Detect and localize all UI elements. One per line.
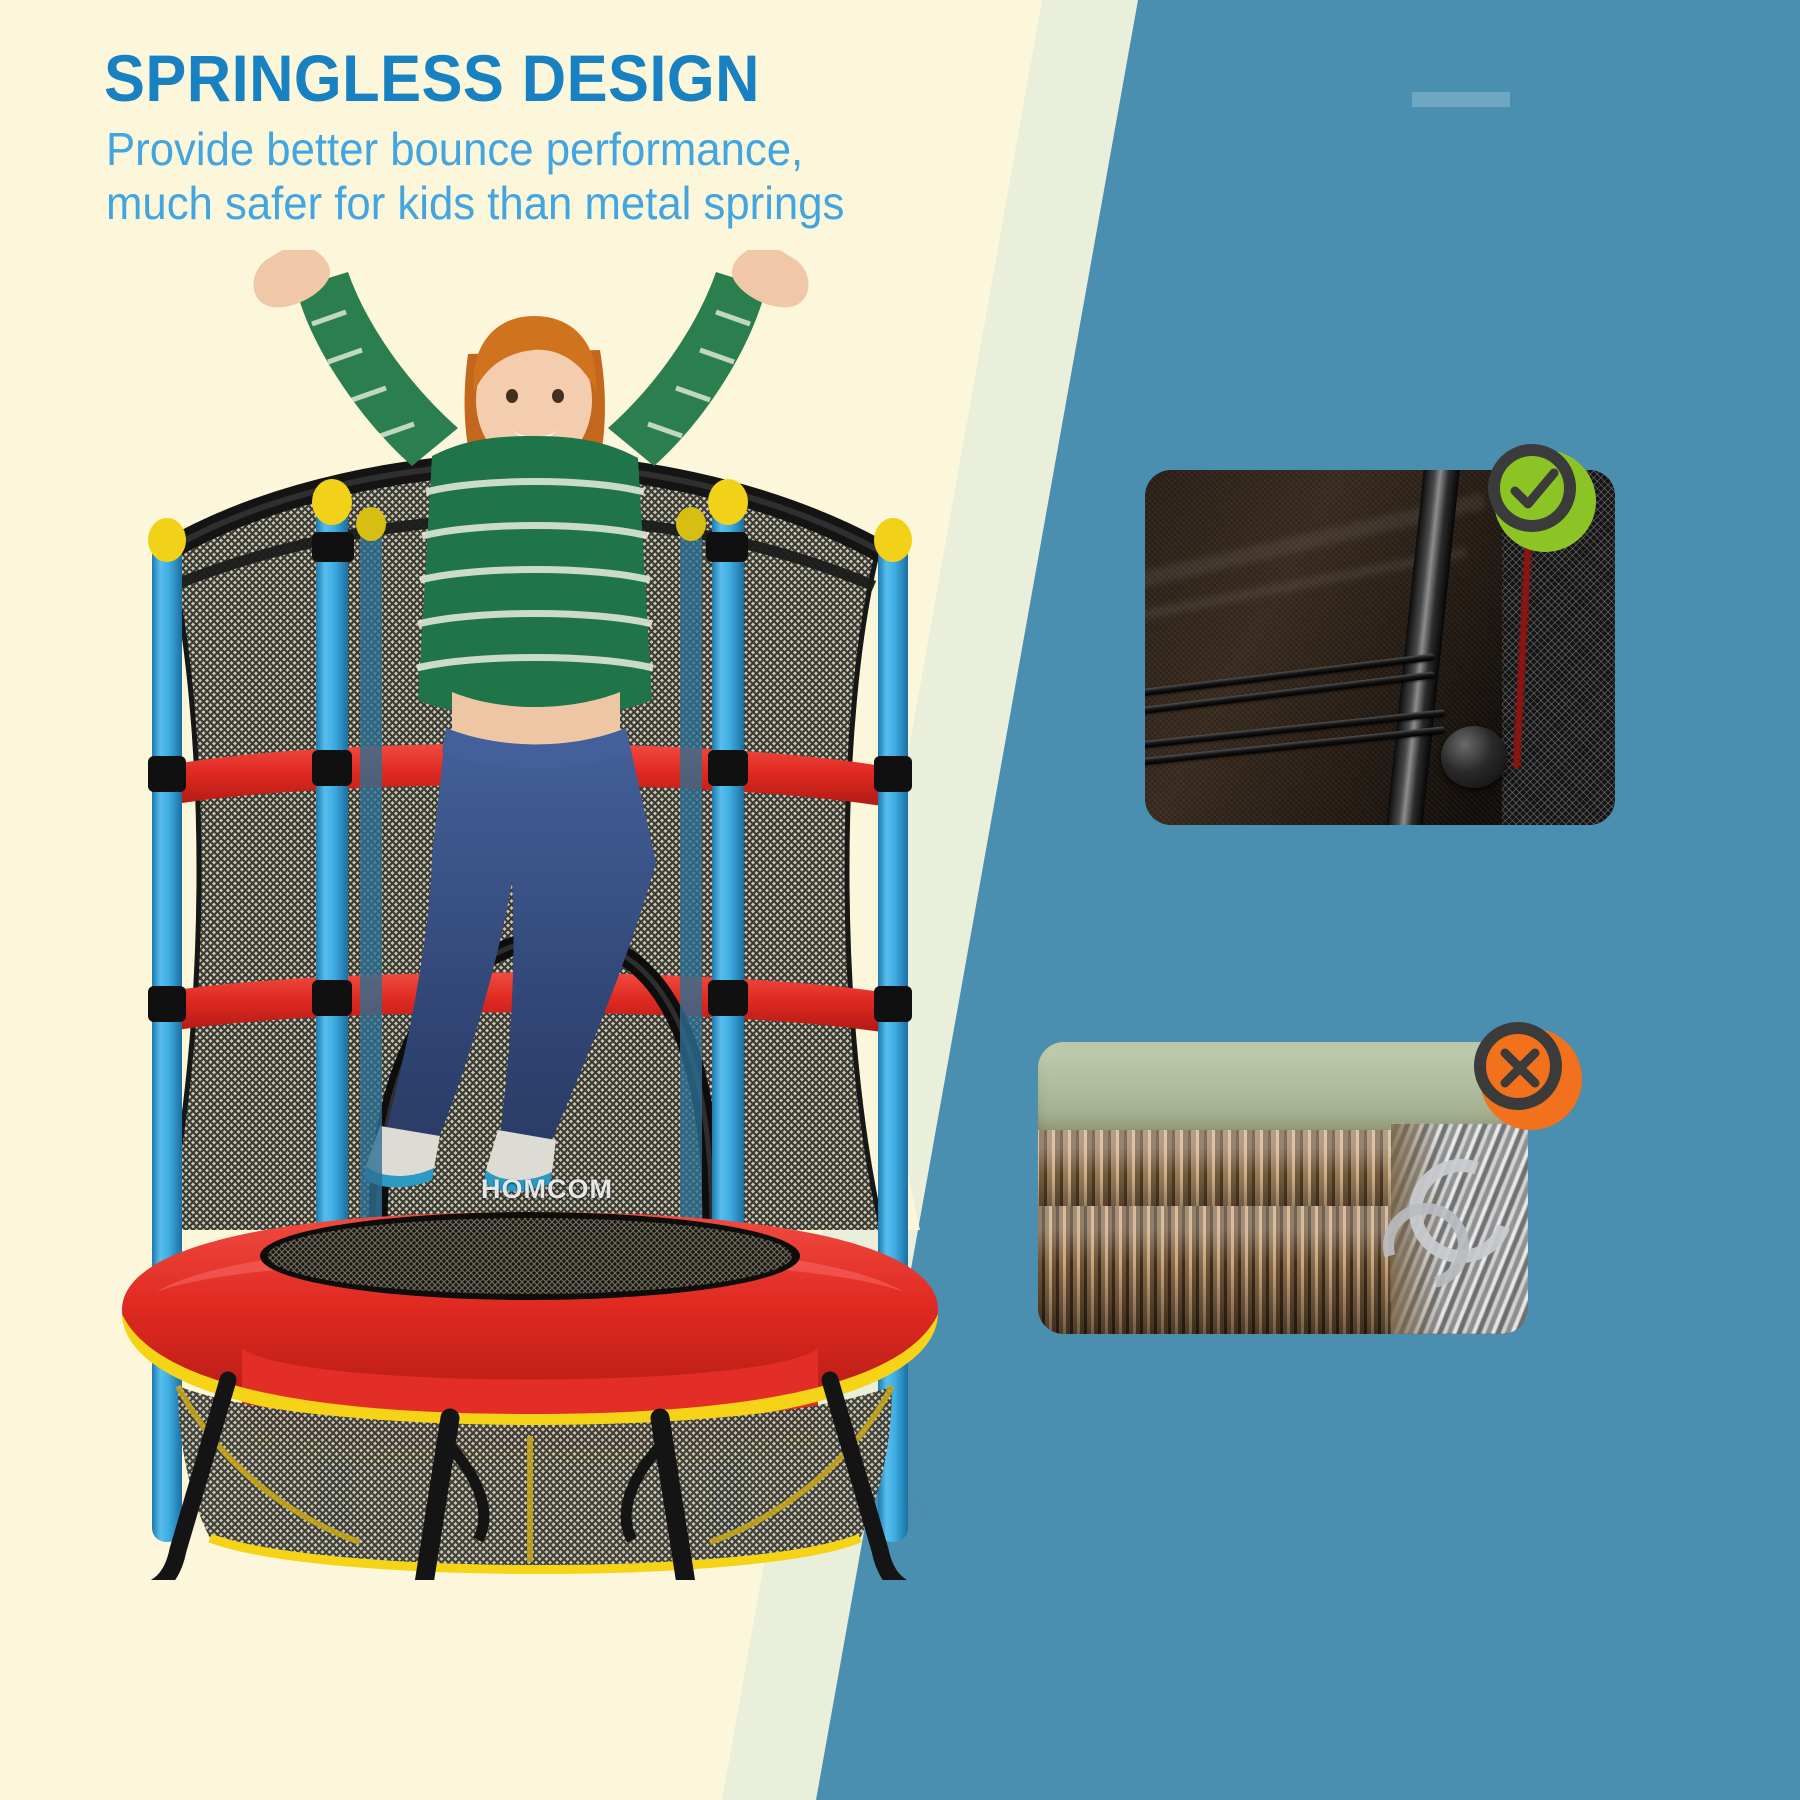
brand-logo: HOMCOM — [452, 1174, 642, 1205]
page-subtitle: Provide better bounce performance, much … — [106, 122, 844, 231]
subtitle-line-1: Provide better bounce performance, — [106, 123, 803, 175]
cross-icon — [1490, 1038, 1550, 1098]
ball-toggle — [1441, 726, 1507, 788]
photo-card-springs — [1038, 1042, 1528, 1334]
springs-photo — [1038, 1042, 1528, 1334]
product-illustration — [60, 250, 1010, 1580]
page-title: SPRINGLESS DESIGN — [104, 40, 760, 116]
cross-badge — [1474, 1022, 1582, 1130]
check-badge — [1488, 444, 1596, 552]
subtitle-line-2: much safer for kids than metal springs — [106, 177, 844, 229]
top-accent-bar — [1412, 92, 1510, 107]
check-icon — [1504, 460, 1564, 520]
promo-banner: SPRINGLESS DESIGN Provide better bounce … — [0, 0, 1800, 1800]
